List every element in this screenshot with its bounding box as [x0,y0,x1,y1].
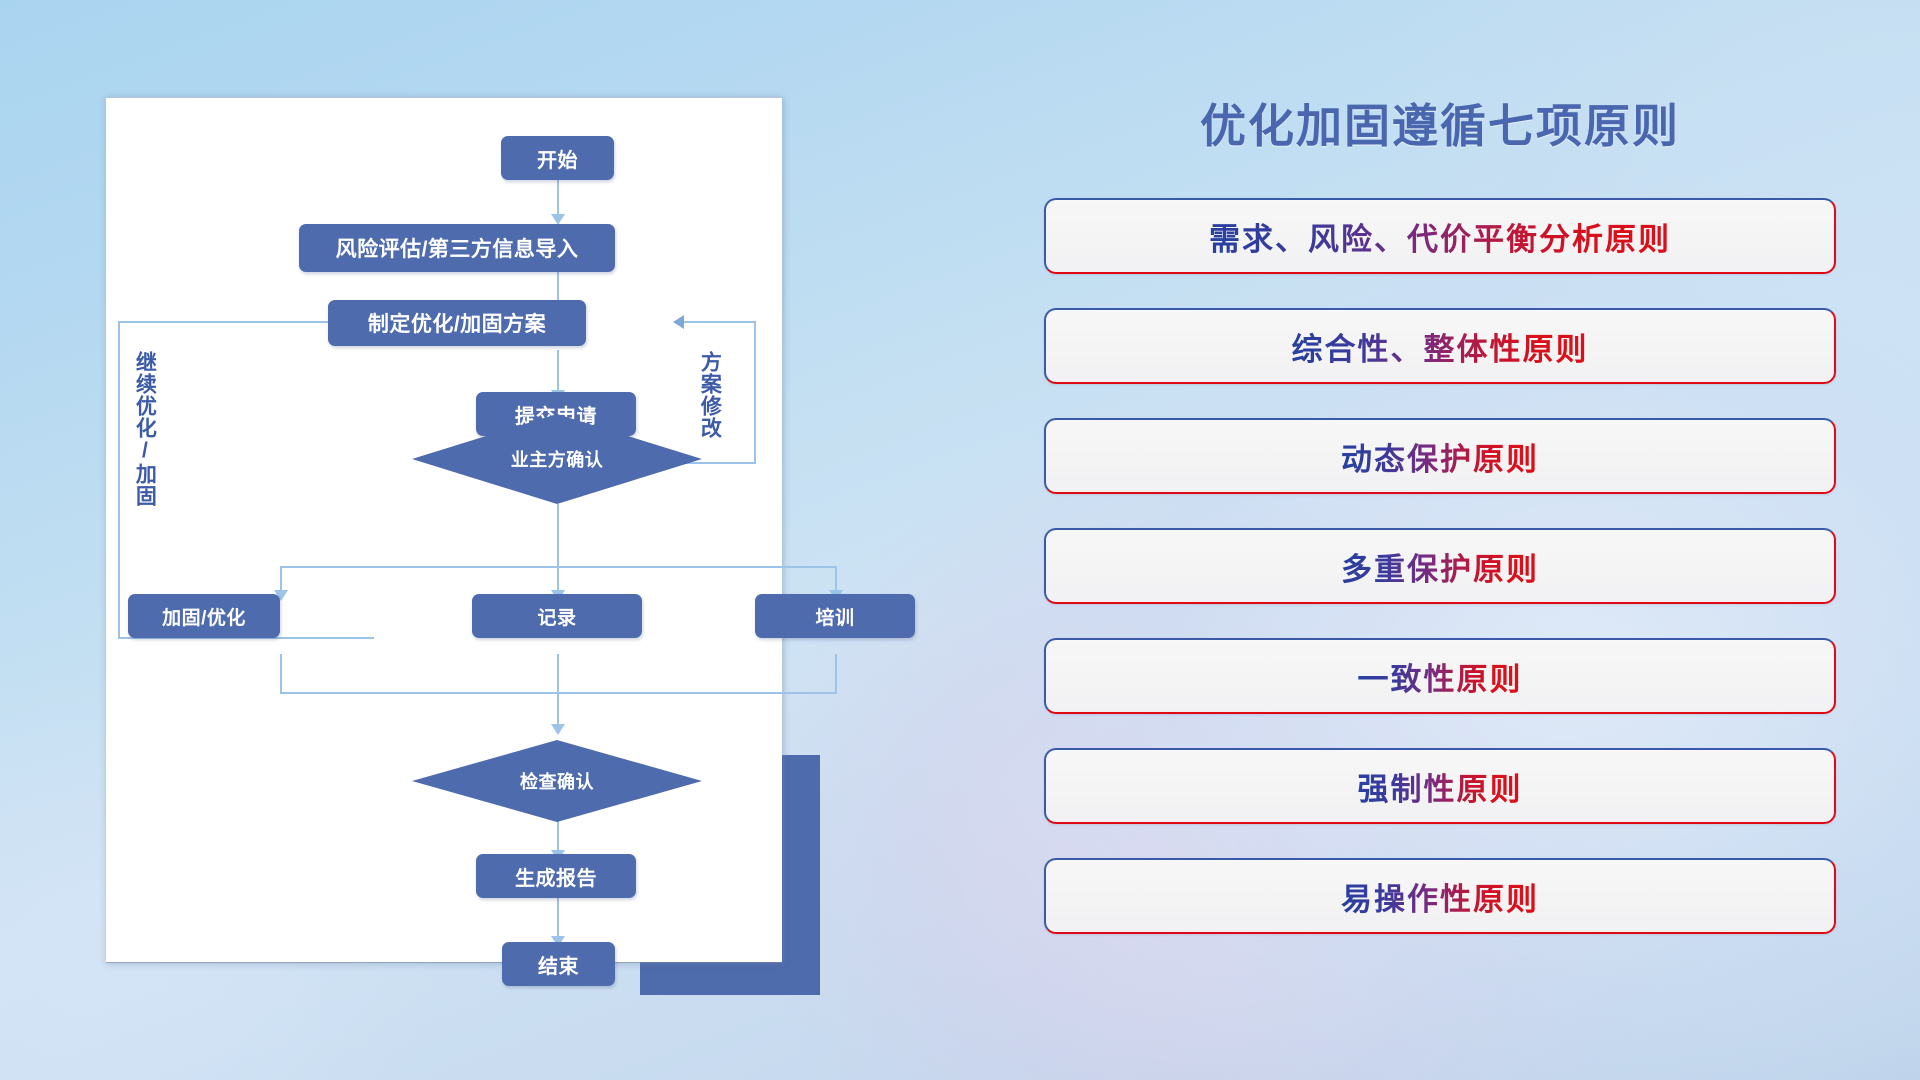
connector-owner-down [557,504,559,568]
principle-item-label: 一致性原则 [1358,654,1523,699]
flow-node-end-label: 结束 [538,950,579,979]
principle-item-2[interactable]: 综合性、整体性原则 [1044,308,1836,384]
connector-train-down [835,654,837,694]
flow-node-plan[interactable]: 制定优化/加固方案 [328,300,586,346]
principle-item-label: 动态保护原则 [1341,434,1539,479]
flow-node-plan-label: 制定优化/加固方案 [368,308,546,338]
flow-node-training-label: 培训 [815,603,854,630]
principle-item-label: 综合性、整体性原则 [1292,324,1589,369]
flow-node-reinforce[interactable]: 加固/优化 [128,594,280,638]
principle-item-label: 易操作性原则 [1341,874,1539,919]
flow-decision-inspection-confirm-label: 检查确认 [520,768,594,794]
principle-item-7[interactable]: 易操作性原则 [1044,858,1836,934]
connector-record-down [557,654,559,728]
flow-node-training[interactable]: 培训 [755,594,915,638]
flowchart-canvas: 开始 风险评估/第三方信息导入 制定优化/加固方案 提交申请 业主方确认 加固/… [106,98,782,962]
connector-plan-to-submit [557,350,559,394]
principle-item-label: 多重保护原则 [1341,544,1539,589]
principle-item-label: 需求、风险、代价平衡分析原则 [1209,214,1671,259]
flow-node-risk-assessment[interactable]: 风险评估/第三方信息导入 [299,224,615,272]
connector-report-to-end [557,898,559,940]
connector-loop-right-top [684,321,756,323]
principle-item-6[interactable]: 强制性原则 [1044,748,1836,824]
arrowhead-merge-to-check [551,724,565,735]
flow-node-generate-report-label: 生成报告 [515,862,597,891]
flow-node-end[interactable]: 结束 [502,942,615,986]
connector-loop-left-vertical [118,321,120,639]
page-title: 优化加固遵循七项原则 [1020,90,1860,156]
principle-item-1[interactable]: 需求、风险、代价平衡分析原则 [1044,198,1836,274]
flow-node-record[interactable]: 记录 [472,594,642,638]
principle-item-label: 强制性原则 [1358,764,1523,809]
flow-node-generate-report[interactable]: 生成报告 [476,854,636,898]
flow-edge-label-plan-revision: 方案修改 [699,351,720,471]
flowchart-card: 开始 风险评估/第三方信息导入 制定优化/加固方案 提交申请 业主方确认 加固/… [106,97,782,962]
principles-pane: 优化加固遵循七项原则 需求、风险、代价平衡分析原则 综合性、整体性原则 动态保护… [1020,90,1860,1020]
flow-node-reinforce-label: 加固/优化 [162,603,246,630]
connector-reinforce-down [280,654,282,694]
connector-start-to-risk [557,174,559,218]
flow-node-risk-assessment-label: 风险评估/第三方信息导入 [336,233,579,263]
flow-decision-owner-confirm[interactable]: 业主方确认 [412,414,702,504]
principle-item-3[interactable]: 动态保护原则 [1044,418,1836,494]
flow-decision-inspection-confirm[interactable]: 检查确认 [412,740,702,822]
flow-node-start[interactable]: 开始 [501,136,614,180]
flow-node-start-label: 开始 [537,144,578,173]
flow-node-record-label: 记录 [537,603,576,630]
principle-item-4[interactable]: 多重保护原则 [1044,528,1836,604]
flow-decision-owner-confirm-label: 业主方确认 [511,446,604,472]
flow-edge-label-continue-optimize: 继续优化/加固 [134,351,155,511]
connector-loop-right-vertical [754,321,756,464]
principle-item-5[interactable]: 一致性原则 [1044,638,1836,714]
arrowhead-loop-right-to-plan [673,315,684,329]
